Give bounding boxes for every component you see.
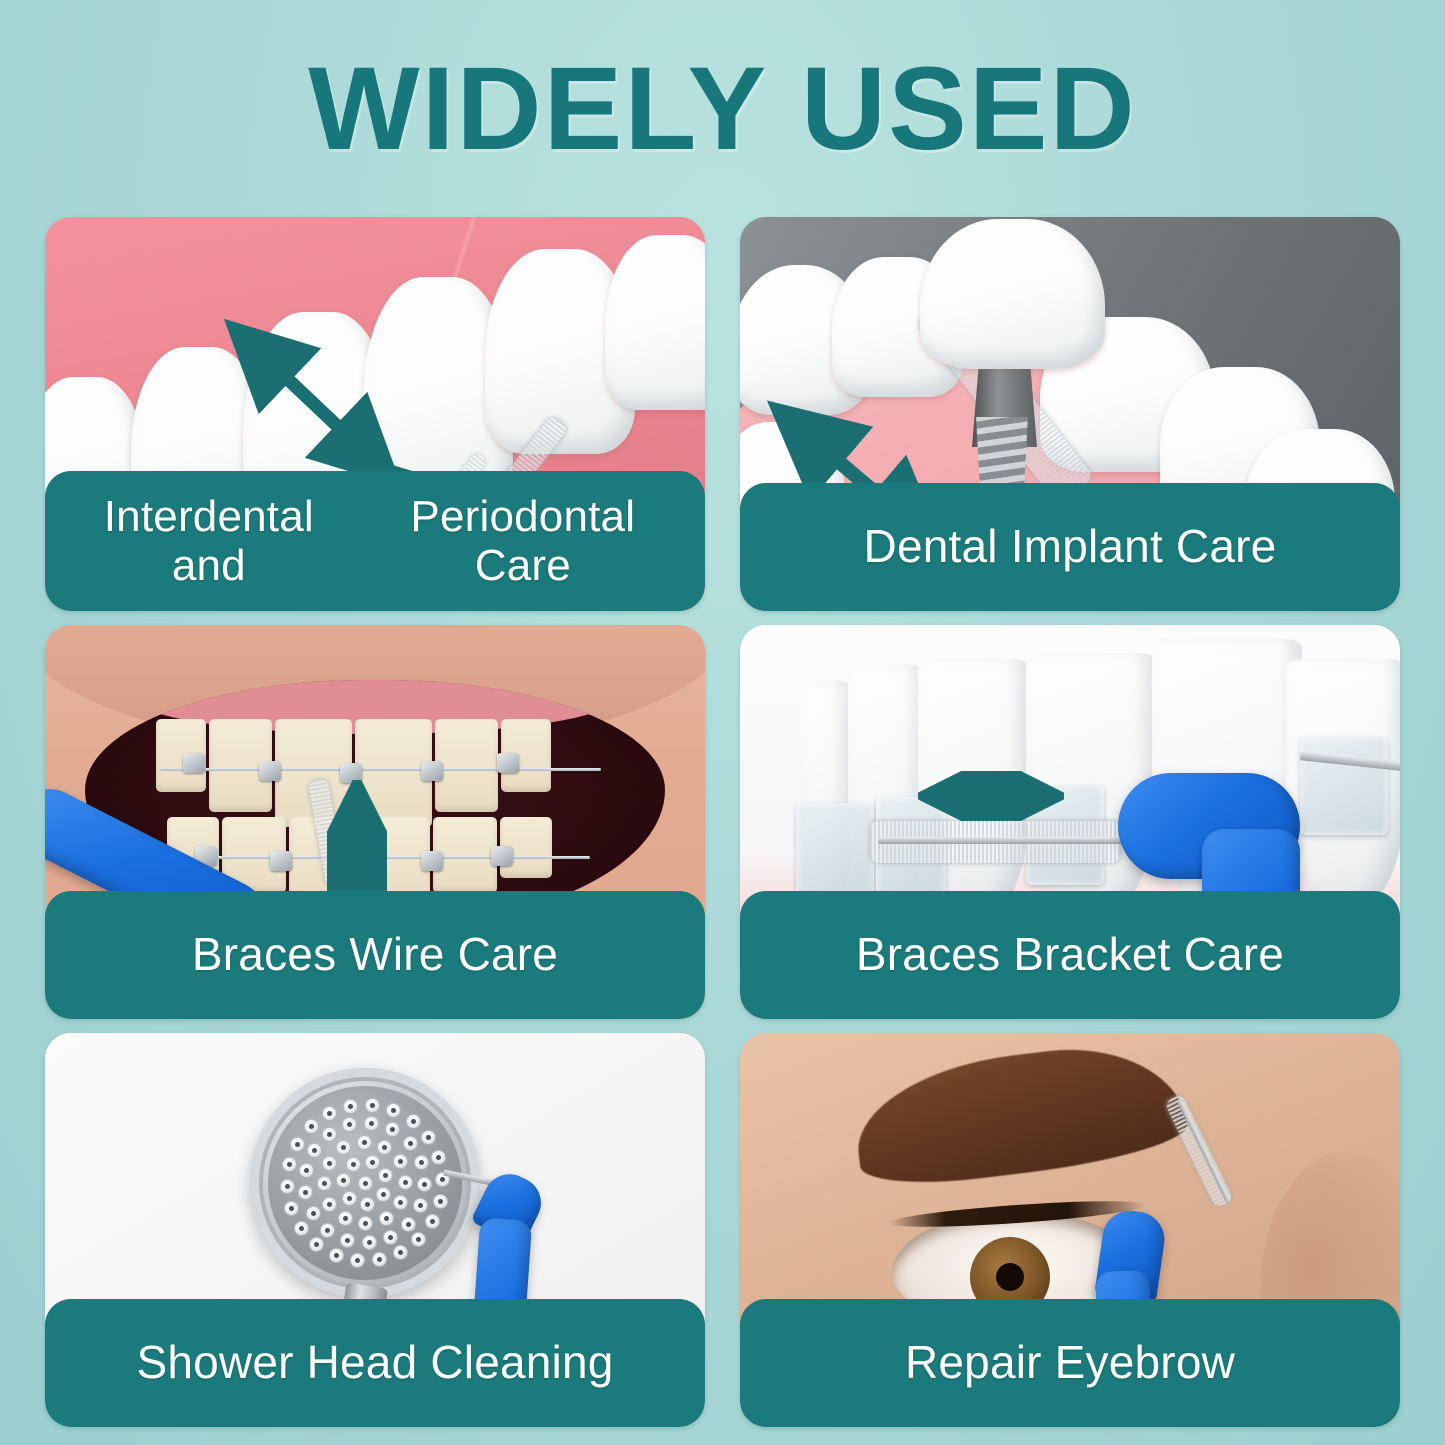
shower-nozzle	[421, 1130, 436, 1145]
shower-nozzle	[385, 1122, 400, 1137]
shower-nozzle	[338, 1211, 353, 1226]
shower-nozzle	[398, 1175, 413, 1190]
shower-nozzle	[304, 1119, 319, 1134]
shower-nozzle	[322, 1106, 337, 1121]
shower-nozzle	[299, 1163, 314, 1178]
bracket	[421, 851, 443, 871]
shower-nozzle	[431, 1150, 446, 1165]
bracket	[259, 761, 281, 781]
shower-nozzle	[386, 1103, 401, 1118]
infographic-page: WIDELY USED	[0, 0, 1445, 1445]
use-case-card-interdental[interactable]: Interdental and Periodontal Care	[45, 217, 705, 611]
shower-nozzle	[413, 1198, 428, 1213]
card-label-eyebrow: Repair Eyebrow	[740, 1299, 1400, 1427]
use-case-card-braces-bracket[interactable]: Braces Bracket Care	[740, 625, 1400, 1019]
shower-nozzle	[417, 1177, 432, 1192]
shower-nozzle	[406, 1114, 421, 1129]
shower-nozzle	[294, 1221, 309, 1236]
use-case-card-braces-wire[interactable]: Braces Wire Care	[45, 625, 705, 1019]
shower-nozzle	[414, 1155, 429, 1170]
tooth	[435, 719, 498, 811]
card-label-shower-head: Shower Head Cleaning	[45, 1299, 705, 1427]
shower-nozzle	[309, 1237, 324, 1252]
shower-nozzle	[393, 1154, 408, 1169]
shower-nozzle	[362, 1235, 377, 1250]
shower-nozzle	[322, 1127, 337, 1142]
card-label-braces-wire: Braces Wire Care	[45, 891, 705, 1019]
shower-face-plate	[268, 1086, 462, 1280]
shower-nozzle	[378, 1168, 393, 1183]
shower-nozzle	[346, 1157, 361, 1172]
shower-nozzle	[379, 1211, 394, 1226]
bracket	[183, 753, 205, 773]
upper-archwire	[160, 768, 601, 771]
shower-nozzle	[425, 1214, 440, 1229]
shower-nozzle	[336, 1173, 351, 1188]
shower-nozzle	[376, 1187, 391, 1202]
shower-nozzle	[342, 1191, 357, 1206]
shower-nozzle	[336, 1140, 351, 1155]
use-case-card-implant[interactable]: Dental Implant Care	[740, 217, 1400, 611]
bracket	[491, 846, 513, 866]
shower-nozzle	[340, 1233, 355, 1248]
shower-nozzle	[393, 1195, 408, 1210]
card-label-implant: Dental Implant Care	[740, 483, 1400, 611]
shower-nozzle	[307, 1143, 322, 1158]
shower-nozzle	[383, 1230, 398, 1245]
brush-wire-core	[878, 837, 1128, 844]
shower-nozzle	[411, 1232, 426, 1247]
horizontal-double-arrow-icon	[918, 771, 1064, 821]
shower-nozzle	[350, 1253, 365, 1268]
shower-nozzle	[372, 1252, 387, 1267]
use-case-grid: Interdental and Periodontal Care	[45, 217, 1400, 1427]
page-title: WIDELY USED	[0, 48, 1445, 172]
shower-nozzle	[317, 1176, 332, 1191]
shower-nozzle	[282, 1157, 297, 1172]
shower-nozzle	[284, 1201, 299, 1216]
shower-nozzle	[320, 1223, 335, 1238]
bracket	[270, 851, 292, 871]
tooth	[605, 235, 705, 410]
shower-nozzle	[306, 1206, 321, 1221]
bracket	[421, 761, 443, 781]
shower-head	[250, 1068, 480, 1298]
shower-nozzle	[393, 1245, 408, 1260]
shower-nozzle	[357, 1135, 372, 1150]
use-case-card-eyebrow[interactable]: Repair Eyebrow	[740, 1033, 1400, 1427]
shower-nozzle	[298, 1185, 313, 1200]
shower-nozzle	[358, 1216, 373, 1231]
clear-bracket	[796, 803, 874, 901]
use-case-card-shower-head[interactable]: Shower Head Cleaning	[45, 1033, 705, 1427]
brush-wire-core	[1177, 1100, 1231, 1203]
shower-nozzle	[433, 1194, 448, 1209]
shower-nozzle	[358, 1176, 373, 1191]
shower-nozzle	[290, 1137, 305, 1152]
bracket	[497, 753, 519, 773]
shower-nozzle	[322, 1156, 337, 1171]
card-label-line: Periodontal Care	[357, 492, 689, 591]
shower-nozzle	[365, 1155, 380, 1170]
shower-nozzle	[401, 1217, 416, 1232]
card-label-line: Interdental and	[61, 492, 357, 591]
shower-nozzle	[403, 1136, 418, 1151]
shower-nozzle	[377, 1140, 392, 1155]
shower-nozzle	[329, 1248, 344, 1263]
shower-nozzle	[280, 1179, 295, 1194]
card-label-interdental: Interdental and Periodontal Care	[45, 471, 705, 611]
card-label-braces-bracket: Braces Bracket Care	[740, 891, 1400, 1019]
implant-crown	[920, 219, 1105, 369]
shower-nozzle	[322, 1197, 337, 1212]
shower-nozzle	[364, 1116, 379, 1131]
shower-nozzle	[342, 1117, 357, 1132]
shower-nozzle	[360, 1197, 375, 1212]
eyebrow	[849, 1035, 1191, 1192]
shower-nozzle	[365, 1098, 380, 1113]
shower-nozzle	[343, 1099, 358, 1114]
